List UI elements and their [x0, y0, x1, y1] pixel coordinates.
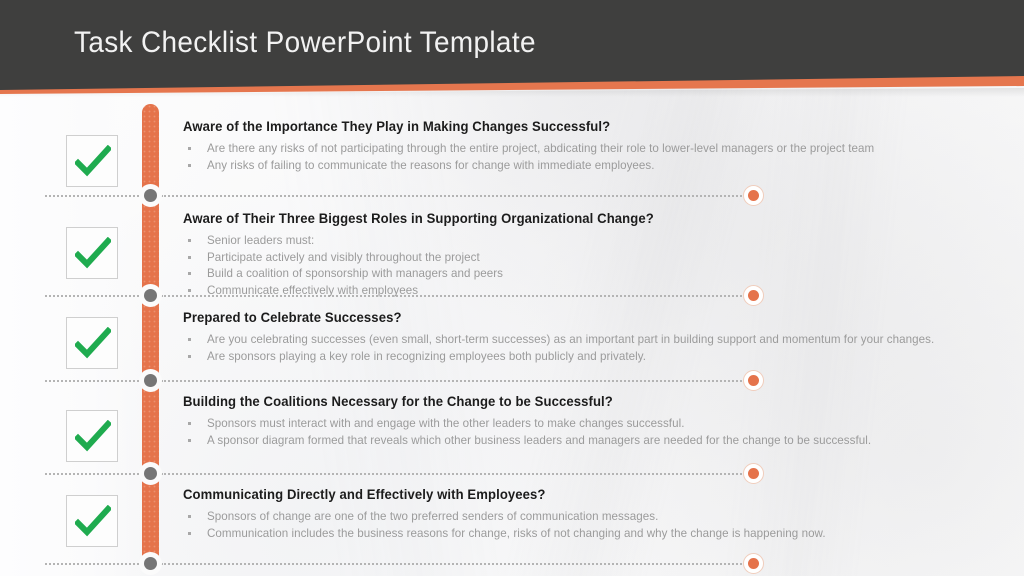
checklist-item-bullets: Are there any risks of not participating…	[183, 141, 983, 173]
bullet-item: Are there any risks of not participating…	[183, 141, 997, 157]
separator-left-4	[45, 473, 143, 475]
timeline-end-dot-5	[743, 553, 764, 574]
check-mark-icon	[75, 145, 111, 179]
bullet-item: Sponsors must interact with and engage w…	[183, 416, 977, 432]
check-mark-icon	[75, 327, 111, 361]
page-title: Task Checklist PowerPoint Template	[74, 26, 536, 60]
timeline-end-dot-4	[743, 463, 764, 484]
checklist-item-5: Communicating Directly and Effectively w…	[183, 487, 983, 542]
timeline-bar	[142, 104, 159, 568]
bullet-item: Build a coalition of sponsorship with ma…	[183, 266, 977, 282]
checkbox-4[interactable]	[66, 410, 118, 462]
checklist-item-2: Aware of Their Three Biggest Roles in Su…	[183, 211, 983, 299]
checklist-item-bullets: Sponsors must interact with and engage w…	[183, 416, 983, 448]
check-mark-icon	[75, 420, 111, 454]
timeline-end-dot-1	[743, 185, 764, 206]
bullet-item: Any risks of failing to communicate the …	[183, 158, 997, 174]
separator-left-3	[45, 380, 143, 382]
checklist-item-bullets: Are you celebrating successes (even smal…	[183, 332, 983, 364]
checklist-item-4: Building the Coalitions Necessary for th…	[183, 394, 983, 449]
checklist-item-bullets: Sponsors of change are one of the two pr…	[183, 509, 983, 541]
timeline-node-4[interactable]	[139, 462, 162, 485]
check-mark-icon	[75, 237, 111, 271]
timeline-bar-texture	[142, 104, 159, 568]
timeline-end-dot-3	[743, 370, 764, 391]
checkbox-2[interactable]	[66, 227, 118, 279]
bullet-item: Sponsors of change are one of the two pr…	[183, 509, 997, 525]
bullet-item: A sponsor diagram formed that reveals wh…	[183, 433, 977, 449]
timeline-node-1[interactable]	[139, 184, 162, 207]
checklist-item-3: Prepared to Celebrate Successes? Are you…	[183, 310, 983, 365]
slide-canvas: Task Checklist PowerPoint Template	[0, 0, 1024, 576]
check-mark-icon	[75, 505, 111, 539]
bullet-item: Are sponsors playing a key role in recog…	[183, 349, 947, 365]
separator-left-2	[45, 295, 143, 297]
bullet-item: Communication includes the business reas…	[183, 526, 997, 542]
timeline-node-3[interactable]	[139, 369, 162, 392]
timeline-node-2[interactable]	[139, 284, 162, 307]
checkbox-5[interactable]	[66, 495, 118, 547]
separator-right-5	[161, 563, 749, 565]
checklist-item-bullets: Senior leaders must: Participate activel…	[183, 233, 983, 298]
bullet-item: Participate actively and visibly through…	[183, 250, 977, 266]
checkbox-1[interactable]	[66, 135, 118, 187]
checklist-item-1: Aware of the Importance They Play in Mak…	[183, 119, 983, 174]
checklist-item-heading: Prepared to Celebrate Successes?	[183, 310, 959, 325]
checkbox-3[interactable]	[66, 317, 118, 369]
bullet-item: Senior leaders must:	[183, 233, 977, 249]
separator-left-5	[45, 563, 143, 565]
checklist-item-heading: Aware of the Importance They Play in Mak…	[183, 119, 959, 134]
bullet-item: Communicate effectively with employees	[183, 283, 977, 299]
timeline-node-5[interactable]	[139, 552, 162, 575]
separator-left-1	[45, 195, 143, 197]
bullet-item: Are you celebrating successes (even smal…	[183, 332, 947, 348]
separator-right-1	[161, 195, 749, 197]
checklist-item-heading: Aware of Their Three Biggest Roles in Su…	[183, 211, 959, 226]
checklist-item-heading: Building the Coalitions Necessary for th…	[183, 394, 959, 409]
checklist-item-heading: Communicating Directly and Effectively w…	[183, 487, 959, 502]
separator-right-3	[161, 380, 749, 382]
separator-right-4	[161, 473, 749, 475]
